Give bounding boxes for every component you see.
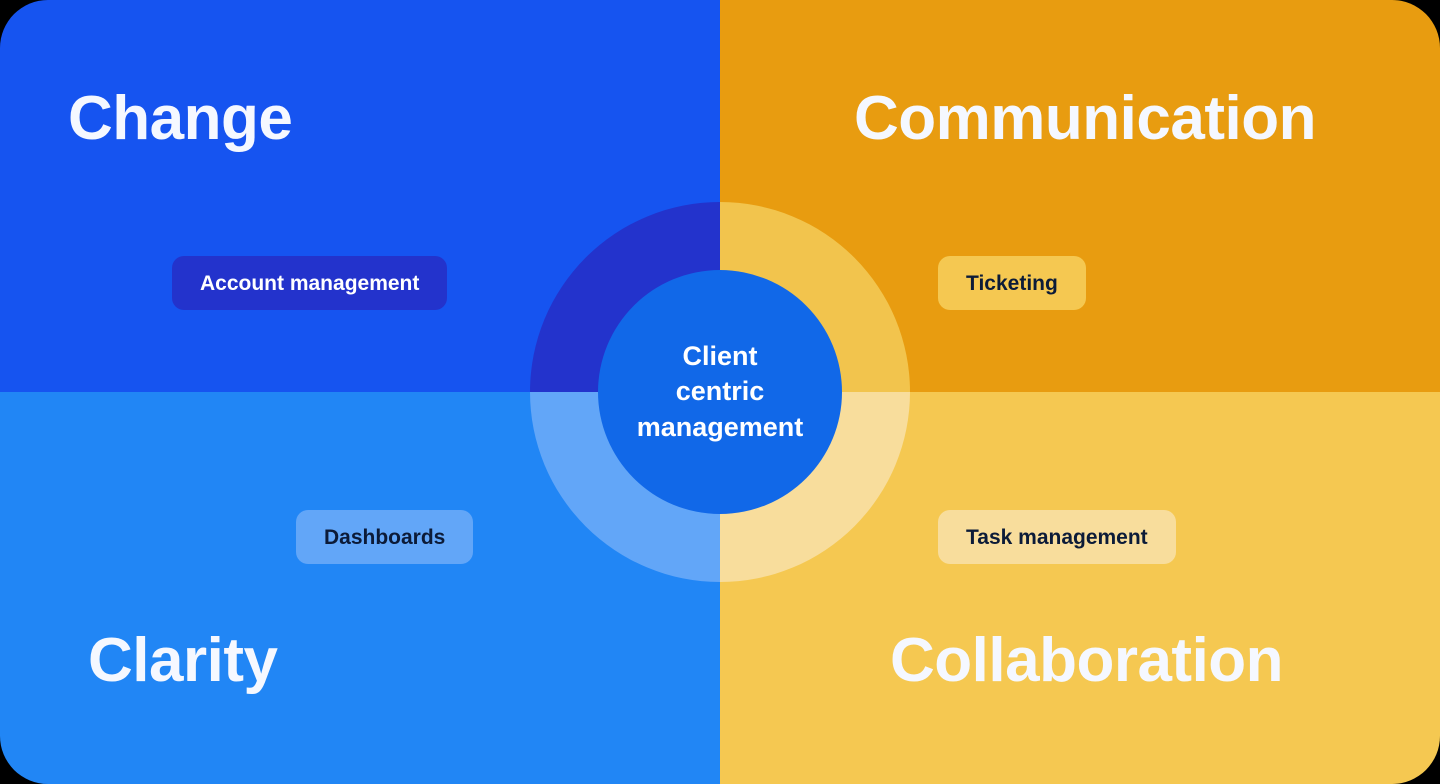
pill-label: Task management: [966, 527, 1148, 548]
quadrant-title-change: Change: [68, 88, 292, 150]
center-core-label: Client centric management: [627, 339, 814, 446]
quadrant-title-communication: Communication: [854, 88, 1316, 150]
pill-ticketing[interactable]: Ticketing: [938, 256, 1086, 310]
quadrant-communication[interactable]: Communication Ticketing: [720, 0, 1440, 392]
quadrant-clarity[interactable]: Clarity Dashboards: [0, 392, 720, 784]
pill-label: Dashboards: [324, 527, 445, 548]
four-c-framework-diagram: Change Account management Communication …: [0, 0, 1440, 784]
center-core-circle[interactable]: Client centric management: [598, 270, 842, 514]
pill-task-management[interactable]: Task management: [938, 510, 1176, 564]
pill-label: Ticketing: [966, 273, 1058, 294]
pill-account-management[interactable]: Account management: [172, 256, 447, 310]
pill-dashboards[interactable]: Dashboards: [296, 510, 473, 564]
quadrant-title-collaboration: Collaboration: [890, 630, 1283, 692]
quadrant-title-clarity: Clarity: [88, 630, 277, 692]
pill-label: Account management: [200, 273, 419, 294]
quadrant-collaboration[interactable]: Collaboration Task management: [720, 392, 1440, 784]
